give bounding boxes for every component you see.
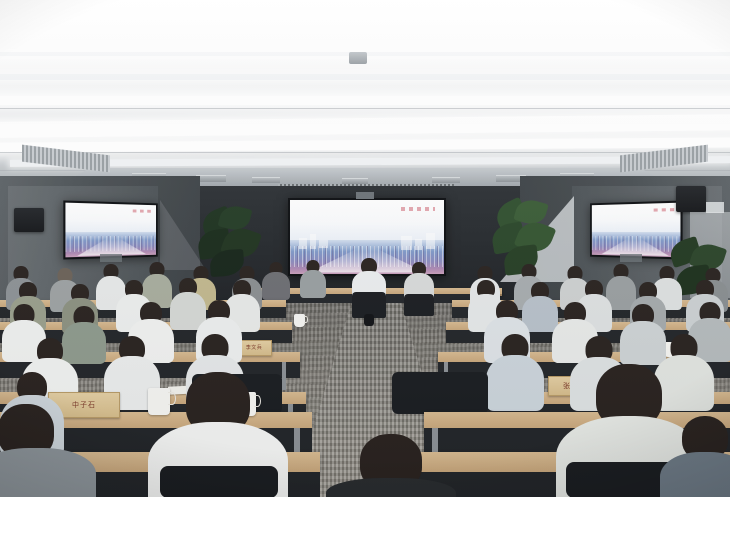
screen-watermark [401, 207, 435, 211]
screen-watermark [132, 210, 151, 213]
conference-room-photo: 李文兵 张建华 [0, 0, 730, 497]
left-screen-mount [100, 254, 122, 262]
attendee [486, 334, 544, 408]
room-sign [706, 202, 724, 213]
name-placard-text: 李文兵 [246, 346, 263, 351]
ceiling-seam [0, 152, 730, 153]
wall-speaker [14, 208, 44, 232]
hvac-diffuser [432, 177, 460, 183]
attendee-foreground [326, 434, 456, 497]
attendee-foreground [0, 404, 120, 497]
wall-speaker [676, 186, 706, 212]
ceiling-seam [0, 108, 730, 109]
main-screen-top-mount [356, 192, 374, 199]
left-side-screen[interactable] [63, 200, 157, 259]
ceiling-fixture-icon [349, 52, 367, 64]
right-screen-mount [620, 254, 642, 262]
screen-sky [592, 203, 681, 234]
ceiling-light-strip [0, 96, 730, 105]
hvac-diffuser [196, 175, 226, 182]
chair [404, 294, 434, 316]
chair [392, 372, 488, 414]
chair [160, 466, 278, 497]
ceiling-light-strip [0, 74, 730, 80]
screen-sky [65, 203, 156, 234]
hvac-diffuser [252, 177, 280, 183]
tea-mug [294, 314, 305, 327]
screenshot-canvas: 李文兵 张建华 [0, 0, 730, 548]
attendee [300, 260, 326, 298]
white-bottom-margin [0, 497, 730, 548]
left-screen-image [65, 203, 156, 258]
chair-base [364, 314, 374, 326]
attendee-foreground [660, 416, 730, 497]
attendee [262, 262, 290, 300]
screen-watermark [654, 208, 675, 211]
